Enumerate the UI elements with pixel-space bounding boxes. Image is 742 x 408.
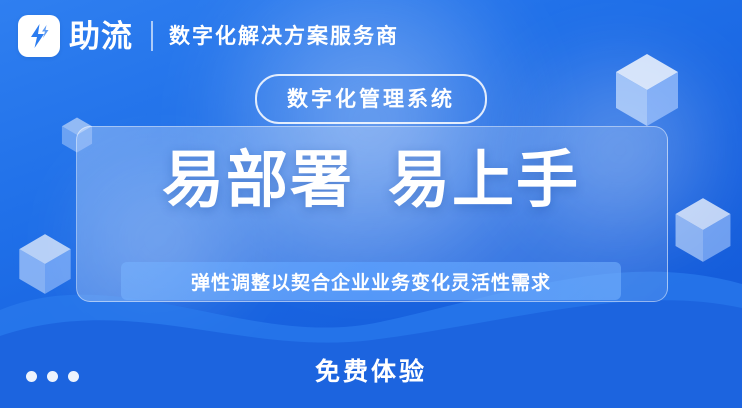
lightning-bolt-logo-icon bbox=[25, 22, 53, 50]
headline-part-1: 易部署 bbox=[162, 146, 354, 215]
decorative-cube-top-right bbox=[612, 52, 682, 128]
free-trial-button[interactable]: 免费体验 bbox=[0, 352, 742, 388]
carousel-dots bbox=[26, 371, 79, 382]
brand-header: 助流 数字化解决方案服务商 bbox=[18, 14, 399, 58]
carousel-dot-2[interactable] bbox=[47, 371, 58, 382]
decorative-cube-left bbox=[16, 232, 74, 296]
brand-name: 助流 bbox=[69, 21, 133, 52]
logo-mark bbox=[18, 15, 60, 57]
carousel-dot-1[interactable] bbox=[26, 371, 37, 382]
subtitle-text: 弹性调整以契合企业业务变化灵活性需求 bbox=[191, 268, 551, 295]
subtitle-bar: 弹性调整以契合企业业务变化灵活性需求 bbox=[121, 262, 621, 300]
headline: 易部署易上手 bbox=[0, 148, 742, 215]
promo-banner: 助流 数字化解决方案服务商 数字化管理系统 易部署易上手 弹性调整以契合企业业务… bbox=[0, 0, 742, 408]
header-divider bbox=[151, 21, 153, 51]
carousel-dot-3[interactable] bbox=[68, 371, 79, 382]
headline-part-2: 易上手 bbox=[388, 146, 580, 215]
brand-slogan: 数字化解决方案服务商 bbox=[169, 26, 399, 47]
system-badge: 数字化管理系统 bbox=[255, 74, 487, 124]
